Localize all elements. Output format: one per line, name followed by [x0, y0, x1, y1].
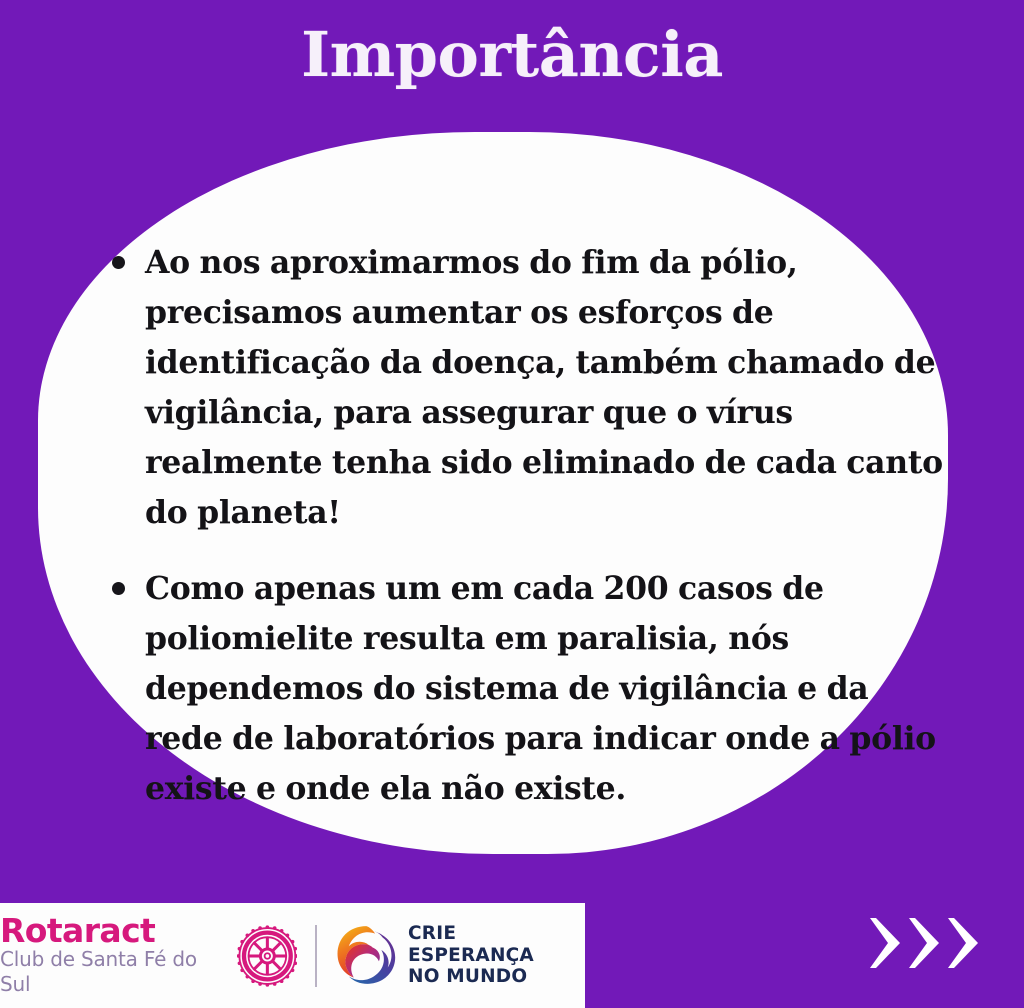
rotaract-logo: Rotaract Club de Santa Fé do Sul: [0, 914, 297, 998]
crie-esperanca-line2: NO MUNDO: [408, 966, 585, 988]
crie-esperanca-logo: CRIE ESPERANÇA NO MUNDO: [335, 923, 585, 988]
page-title: Importância: [0, 22, 1024, 87]
bullet-dot-icon: [112, 582, 125, 595]
rotaract-club-name: Club de Santa Fé do Sul: [0, 947, 229, 997]
bullet-dot-icon: [112, 256, 125, 269]
footer-divider: [315, 925, 317, 987]
rotary-wheel-icon: [237, 925, 298, 987]
crie-esperanca-text: CRIE ESPERANÇA NO MUNDO: [408, 923, 585, 988]
slide-canvas: Importância Ao nos aproximarmos do fim d…: [0, 0, 1024, 1008]
list-item-text: Como apenas um em cada 200 casos de poli…: [145, 564, 952, 814]
list-item: Ao nos aproximarmos do fim da pólio, pre…: [112, 238, 952, 538]
rotaract-wordmark: Rotaract: [0, 914, 229, 948]
chevron-right-icon[interactable]: [866, 916, 904, 970]
crie-esperanca-line1: CRIE ESPERANÇA: [408, 923, 585, 967]
bullet-list: Ao nos aproximarmos do fim da pólio, pre…: [112, 238, 952, 814]
rotaract-text-block: Rotaract Club de Santa Fé do Sul: [0, 914, 229, 998]
footer-logo-bar: Rotaract Club de Santa Fé do Sul: [0, 903, 585, 1008]
list-item-text: Ao nos aproximarmos do fim da pólio, pre…: [145, 238, 952, 538]
next-arrows[interactable]: [866, 916, 982, 970]
chevron-right-icon[interactable]: [905, 916, 943, 970]
chevron-right-icon[interactable]: [944, 916, 982, 970]
list-item: Como apenas um em cada 200 casos de poli…: [112, 564, 952, 814]
swirl-icon: [335, 923, 398, 987]
